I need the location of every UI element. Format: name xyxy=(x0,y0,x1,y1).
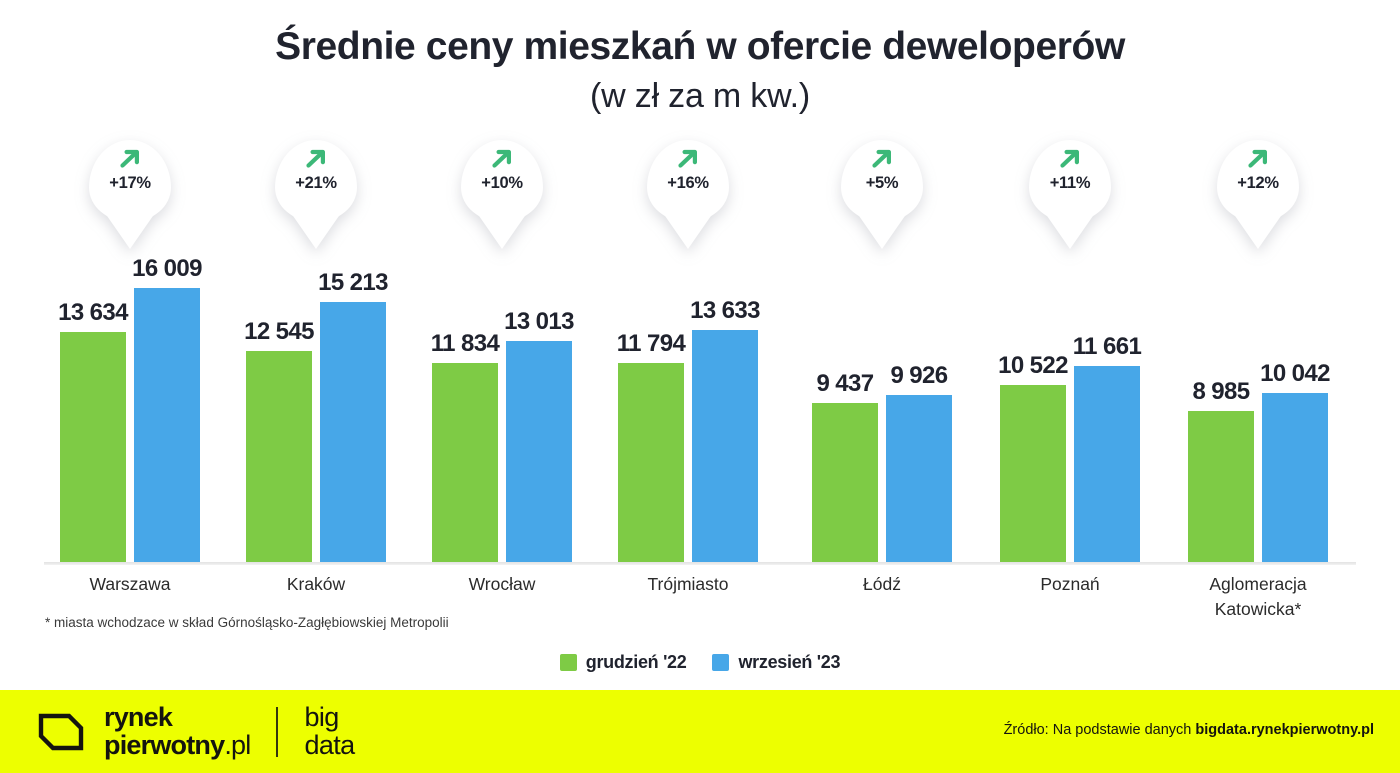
change-badge-pin: +12% xyxy=(1217,140,1299,222)
change-badge: +17% xyxy=(89,140,171,222)
change-badge: +21% xyxy=(275,140,357,222)
trend-up-arrow-icon xyxy=(303,147,329,171)
legend-label: grudzień '22 xyxy=(586,652,687,673)
change-badge: +12% xyxy=(1217,140,1299,222)
change-badge-pin: +10% xyxy=(461,140,543,222)
bar-wrzesien-23[interactable]: 10 042 xyxy=(1262,393,1328,562)
bar-value-label: 10 522 xyxy=(998,352,1068,380)
bar-value-label: 11 834 xyxy=(431,330,499,358)
category-label: Warszawa xyxy=(35,572,225,597)
bar-grudzien-22[interactable]: 13 634 xyxy=(60,332,126,562)
category-label: Trójmiasto xyxy=(593,572,783,597)
bar-pair: 13 63416 009 xyxy=(60,262,200,562)
trend-up-arrow-icon xyxy=(1245,147,1271,171)
bar-wrzesien-23[interactable]: 13 013 xyxy=(506,341,572,562)
bar-value-label: 9 437 xyxy=(816,370,873,398)
bar-pair: 11 79413 633 xyxy=(618,262,758,562)
footer-band: rynek pierwotny.pl big data Źródło: Na p… xyxy=(0,690,1400,773)
change-badge-pin: +16% xyxy=(647,140,729,222)
bar-value-label: 13 633 xyxy=(690,297,760,325)
trend-up-arrow-icon xyxy=(117,147,143,171)
bigdata-line-2: data xyxy=(304,732,354,760)
bar-value-label: 8 985 xyxy=(1192,378,1249,406)
chart-footnote: * miasta wchodzace w skład Górnośląsko-Z… xyxy=(45,615,449,630)
bar-value-label: 9 926 xyxy=(890,362,947,390)
change-badge-value: +11% xyxy=(1050,174,1091,193)
bar-group: +11%10 52211 661Poznań xyxy=(1000,140,1140,562)
legend-item-wrzesien-23: wrzesień '23 xyxy=(712,652,840,673)
change-badge-pin: +5% xyxy=(841,140,923,222)
chart-baseline xyxy=(44,562,1356,565)
bar-value-label: 12 545 xyxy=(244,318,314,346)
change-badge: +10% xyxy=(461,140,543,222)
change-badge: +16% xyxy=(647,140,729,222)
trend-up-arrow-icon xyxy=(869,147,895,171)
category-label: Wrocław xyxy=(407,572,597,597)
brand-lockup: rynek pierwotny.pl big data xyxy=(38,704,355,759)
category-label: Kraków xyxy=(221,572,411,597)
page-subtitle: (w zł za m kw.) xyxy=(0,74,1400,120)
square-swatch-green-icon xyxy=(560,654,577,671)
bar-wrzesien-23[interactable]: 15 213 xyxy=(320,302,386,562)
bar-wrzesien-23[interactable]: 16 009 xyxy=(134,288,200,562)
chart-legend: grudzień '22 wrzesień '23 xyxy=(0,652,1400,673)
bar-wrzesien-23[interactable]: 11 661 xyxy=(1074,366,1140,562)
bar-value-label: 13 013 xyxy=(504,308,574,336)
bigdata-line-1: big xyxy=(304,704,354,732)
bar-wrzesien-23[interactable]: 13 633 xyxy=(692,330,758,562)
bar-group: +5%9 4379 926Łódź xyxy=(812,140,952,562)
change-badge-pin: +11% xyxy=(1029,140,1111,222)
bar-pair: 12 54515 213 xyxy=(246,262,386,562)
rynek-pierwotny-square-logo-icon xyxy=(38,709,84,755)
change-badge-pin: +21% xyxy=(275,140,357,222)
bar-value-label: 16 009 xyxy=(132,255,202,283)
bar-value-label: 10 042 xyxy=(1260,360,1330,388)
bar-grudzien-22[interactable]: 10 522 xyxy=(1000,385,1066,562)
bigdata-wordmark: big data xyxy=(304,704,354,759)
bar-value-label: 13 634 xyxy=(58,299,128,327)
bar-value-label: 15 213 xyxy=(318,269,388,297)
bar-group: +12%8 98510 042AglomeracjaKatowicka* xyxy=(1188,140,1328,562)
source-prefix: Źródło: Na podstawie danych xyxy=(1004,722,1196,738)
bar-grudzien-22[interactable]: 11 834 xyxy=(432,363,498,562)
page-title: Średnie ceny mieszkań w ofercie dewelope… xyxy=(0,24,1400,70)
bar-grudzien-22[interactable]: 11 794 xyxy=(618,363,684,562)
change-badge-value: +5% xyxy=(866,174,899,193)
trend-up-arrow-icon xyxy=(489,147,515,171)
trend-up-arrow-icon xyxy=(1057,147,1083,171)
bar-group: +17%13 63416 009Warszawa xyxy=(60,140,200,562)
bar-group: +16%11 79413 633Trójmiasto xyxy=(618,140,758,562)
bar-group: +10%11 83413 013Wrocław xyxy=(432,140,572,562)
brand-line-1: rynek xyxy=(104,704,250,732)
legend-item-grudzien-22: grudzień '22 xyxy=(560,652,687,673)
change-badge-value: +21% xyxy=(295,174,336,193)
bar-grudzien-22[interactable]: 9 437 xyxy=(812,403,878,562)
bar-grudzien-22[interactable]: 8 985 xyxy=(1188,411,1254,562)
bar-grudzien-22[interactable]: 12 545 xyxy=(246,351,312,562)
brand-divider xyxy=(276,707,278,757)
bar-pair: 10 52211 661 xyxy=(1000,262,1140,562)
change-badge: +5% xyxy=(841,140,923,222)
bar-wrzesien-23[interactable]: 9 926 xyxy=(886,395,952,562)
source-domain: bigdata.rynekpierwotny.pl xyxy=(1195,722,1374,738)
trend-up-arrow-icon xyxy=(675,147,701,171)
bar-pair: 11 83413 013 xyxy=(432,262,572,562)
brand-wordmark: rynek pierwotny.pl xyxy=(104,704,250,759)
change-badge-value: +16% xyxy=(667,174,708,193)
bar-value-label: 11 661 xyxy=(1073,333,1141,361)
brand-line-2: pierwotny.pl xyxy=(104,732,250,760)
category-label: Łódź xyxy=(787,572,977,597)
infographic-root: Średnie ceny mieszkań w ofercie dewelope… xyxy=(0,0,1400,773)
category-label: AglomeracjaKatowicka* xyxy=(1163,572,1353,622)
brand-tld: .pl xyxy=(224,730,250,760)
change-badge-pin: +17% xyxy=(89,140,171,222)
legend-label: wrzesień '23 xyxy=(738,652,840,673)
bar-pair: 9 4379 926 xyxy=(812,262,952,562)
bar-group: +21%12 54515 213Kraków xyxy=(246,140,386,562)
square-swatch-blue-icon xyxy=(712,654,729,671)
bar-pair: 8 98510 042 xyxy=(1188,262,1328,562)
change-badge-value: +10% xyxy=(481,174,522,193)
change-badge-value: +17% xyxy=(109,174,150,193)
bar-value-label: 11 794 xyxy=(617,330,685,358)
source-attribution: Źródło: Na podstawie danych bigdata.ryne… xyxy=(1004,722,1374,738)
title-block: Średnie ceny mieszkań w ofercie dewelope… xyxy=(0,24,1400,120)
category-label: Poznań xyxy=(975,572,1165,597)
change-badge: +11% xyxy=(1029,140,1111,222)
chart-plot-area: +17%13 63416 009Warszawa+21%12 54515 213… xyxy=(0,140,1400,565)
change-badge-value: +12% xyxy=(1237,174,1278,193)
